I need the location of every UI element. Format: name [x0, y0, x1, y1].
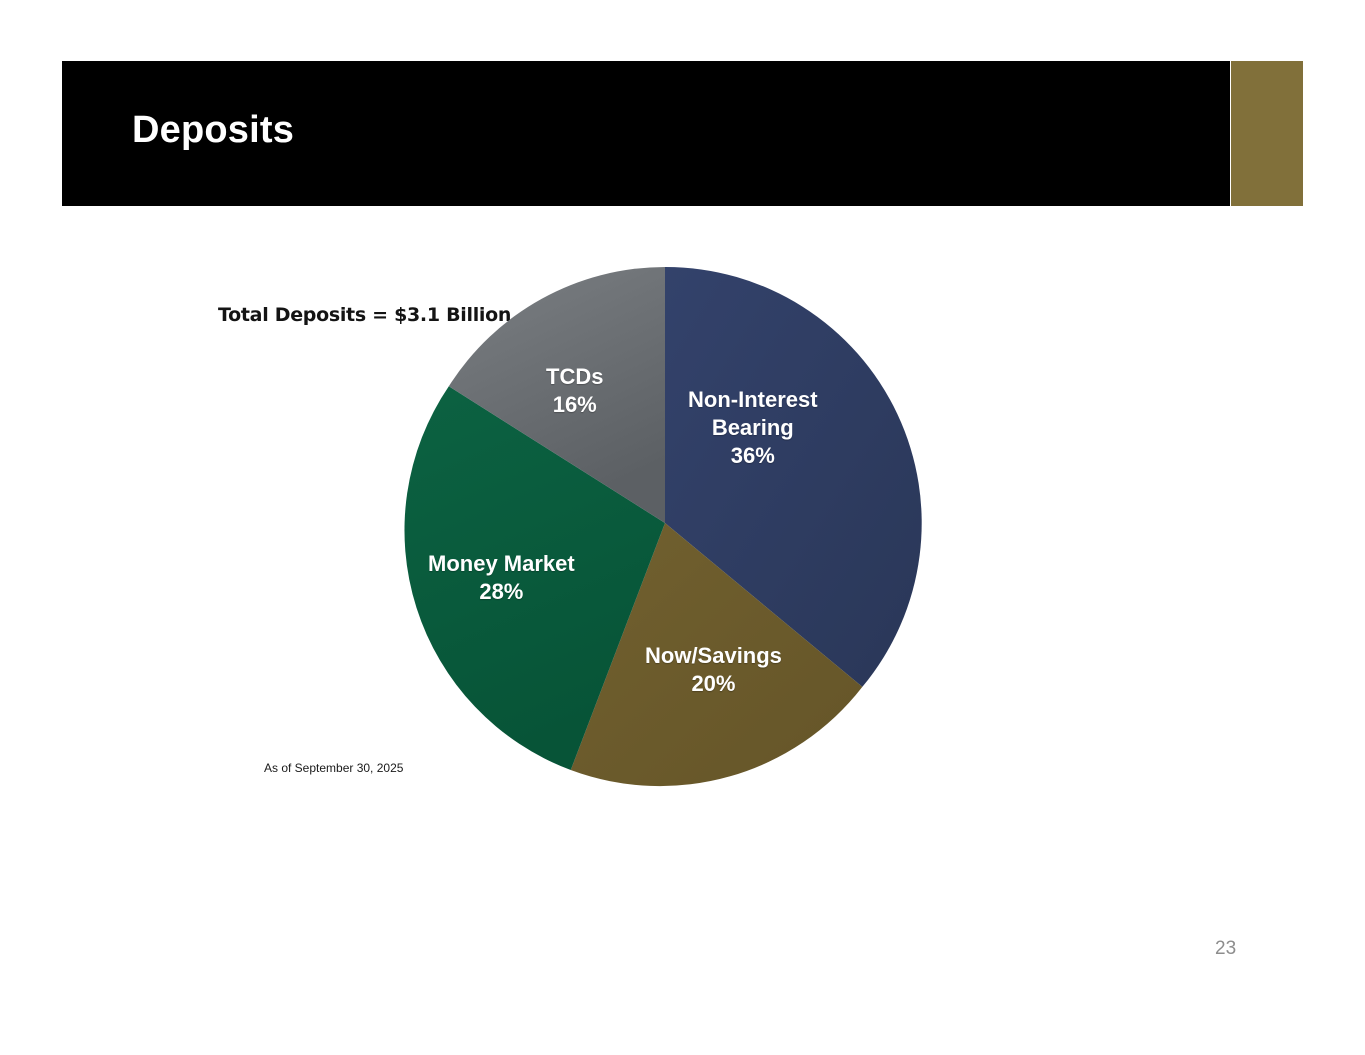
pie-label-tcds: TCDs 16%: [546, 363, 603, 419]
pie-label-line1: Non-Interest: [688, 386, 818, 414]
slide-page-number: 23: [1215, 938, 1236, 960]
pie-label-value: 20%: [645, 670, 782, 698]
pie-label-money-market: Money Market 28%: [428, 550, 575, 606]
pie-label-line1: Money Market: [428, 550, 575, 578]
deposits-pie-chart: Total Deposits = $3.1 Billion: [0, 0, 1365, 1055]
pie-label-line1: TCDs: [546, 363, 603, 391]
pie-label-value: 28%: [428, 578, 575, 606]
pie-label-value: 36%: [688, 442, 818, 470]
pie-label-value: 16%: [546, 391, 603, 419]
chart-footnote-as-of-date: As of September 30, 2025: [264, 761, 403, 775]
pie-label-now-savings: Now/Savings 20%: [645, 642, 782, 698]
pie-label-line1: Now/Savings: [645, 642, 782, 670]
pie-chart-graphic: [400, 258, 930, 788]
pie-label-non-interest-bearing: Non-Interest Bearing 36%: [688, 386, 818, 470]
pie-label-line2: Bearing: [688, 414, 818, 442]
